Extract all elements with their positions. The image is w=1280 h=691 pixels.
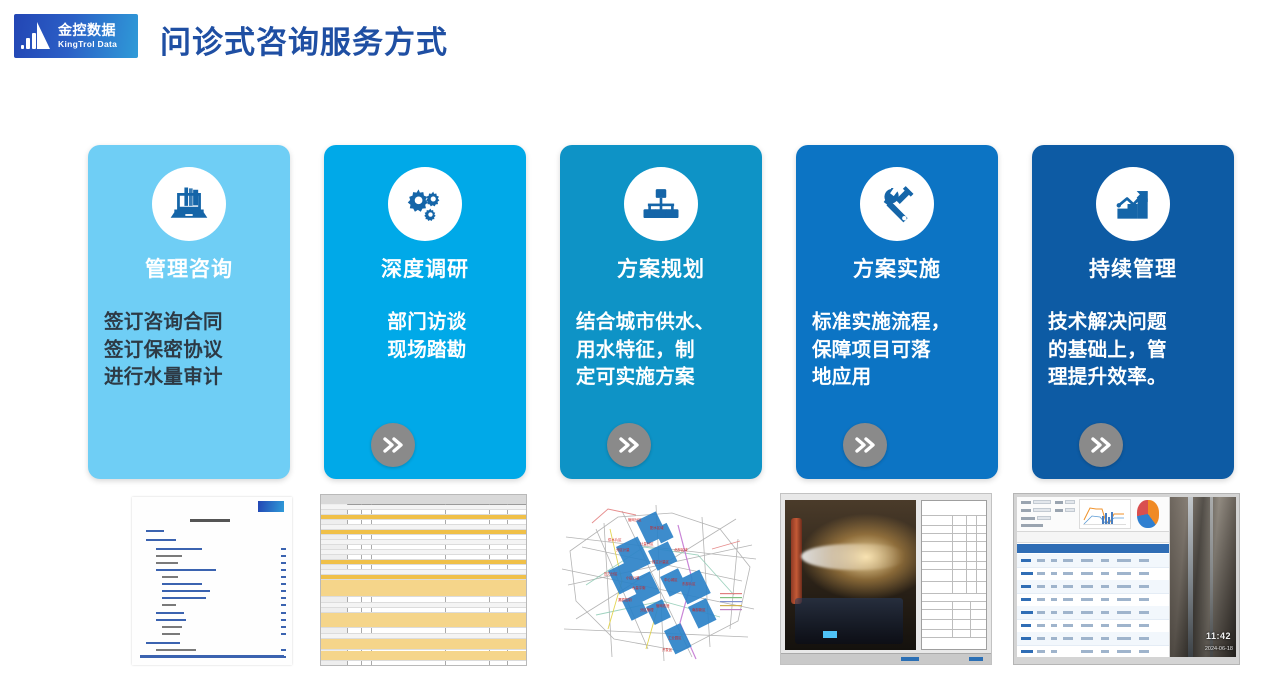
process-step-body-3: 结合城市供水、 用水特征，制 定可实施方案 (576, 309, 750, 392)
process-step-body-4: 标准实施流程， 保障项目可落 地应用 (812, 309, 986, 392)
process-step-card-5[interactable]: 持续管理 技术解决问题 的基础上，管 理提升效率。 (1032, 145, 1234, 479)
trend-mini-chart (1079, 499, 1131, 529)
svg-text:开发区: 开发区 (662, 647, 673, 652)
document-table-of-contents[interactable] (120, 489, 305, 669)
process-step-title-2: 深度调研 (324, 253, 526, 283)
process-step-title-1: 管理咨询 (88, 253, 290, 283)
growth-chart-icon (1096, 167, 1170, 241)
process-step-title-3: 方案规划 (560, 253, 762, 283)
svg-text:漏损控制: 漏损控制 (618, 597, 632, 602)
management-dashboard-screenshot[interactable]: 11:42 2024-06-18 (1013, 489, 1240, 669)
evidence-thumbnails-row: 管网分区 配水区域 供水片区 分区计量 计量分区 独立计量区 压力分区 小区计量… (120, 489, 1240, 669)
svg-text:工业园区: 工业园区 (668, 635, 682, 640)
laptop-books-icon (152, 167, 226, 241)
page-title: 问诊式咨询服务方式 (160, 17, 448, 62)
process-steps-row: 管理咨询 签订咨询合同 签订保密协议 进行水量审计 深度调研 部门访谈 现场踏勘 (88, 145, 1238, 479)
svg-text:配水区域: 配水区域 (650, 525, 664, 530)
double-chevron-right-icon (1079, 423, 1123, 467)
distribution-pie-chart (1137, 500, 1159, 528)
svg-text:分区管理: 分区管理 (640, 607, 654, 612)
city-pipeline-network-map[interactable]: 管网分区 配水区域 供水片区 分区计量 计量分区 独立计量区 压力分区 小区计量… (552, 489, 767, 669)
logo-chinese-name: 金控数据 (58, 23, 117, 37)
gears-icon (388, 167, 462, 241)
process-step-card-4[interactable]: 方案实施 标准实施流程， 保障项目可落 地应用 (796, 145, 998, 479)
logo-english-name: KingTrol Data (58, 40, 117, 49)
svg-text:管网改造: 管网改造 (656, 603, 670, 608)
svg-text:供水片区: 供水片区 (608, 537, 622, 542)
process-step-body-2: 部门访谈 现场踏勘 (340, 309, 514, 364)
leak-detection-photo (785, 500, 916, 650)
excavation-verification-photo: 11:42 2024-06-18 (1170, 497, 1236, 657)
wrench-screwdriver-icon (860, 167, 934, 241)
doc-logo-icon (258, 501, 284, 512)
process-step-body-1: 签订咨询合同 签订保密协议 进行水量审计 (104, 309, 278, 392)
svg-text:计量分区: 计量分区 (640, 541, 654, 546)
svg-text:南部新区: 南部新区 (692, 607, 706, 612)
svg-text:北部区域: 北部区域 (674, 547, 688, 552)
company-logo: 金控数据 KingTrol Data (14, 14, 138, 58)
double-chevron-right-icon (607, 423, 651, 467)
inspection-record-form (921, 500, 987, 650)
svg-text:分区计量: 分区计量 (616, 547, 630, 552)
page-header: 金控数据 KingTrol Data 问诊式咨询服务方式 (0, 0, 1280, 92)
double-chevron-right-icon (843, 423, 887, 467)
process-step-card-2[interactable]: 深度调研 部门访谈 现场踏勘 (324, 145, 526, 479)
svg-text:独立计量区: 独立计量区 (652, 559, 670, 564)
svg-text:压力分区: 压力分区 (604, 571, 618, 576)
process-step-card-1[interactable]: 管理咨询 签订咨询合同 签订保密协议 进行水量审计 (88, 145, 290, 479)
svg-text:水量平衡: 水量平衡 (632, 585, 646, 590)
svg-text:中心城区: 中心城区 (664, 577, 678, 582)
process-step-title-4: 方案实施 (796, 253, 998, 283)
table-header (1017, 544, 1169, 553)
process-step-body-5: 技术解决问题 的基础上，管 理提升效率。 (1048, 309, 1222, 392)
process-step-card-3[interactable]: 方案规划 结合城市供水、 用水特征，制 定可实施方案 (560, 145, 762, 479)
field-leak-detection-photo[interactable] (780, 489, 992, 669)
spreadsheet-audit-table[interactable] (316, 489, 531, 669)
svg-text:管网分区: 管网分区 (628, 517, 642, 522)
bar-chart-sail-logo-icon (20, 21, 54, 51)
svg-text:小区计量: 小区计量 (626, 575, 640, 580)
process-step-title-5: 持续管理 (1032, 253, 1234, 283)
double-chevron-right-icon (371, 423, 415, 467)
org-chart-icon (624, 167, 698, 241)
svg-text:东部片区: 东部片区 (682, 581, 696, 586)
